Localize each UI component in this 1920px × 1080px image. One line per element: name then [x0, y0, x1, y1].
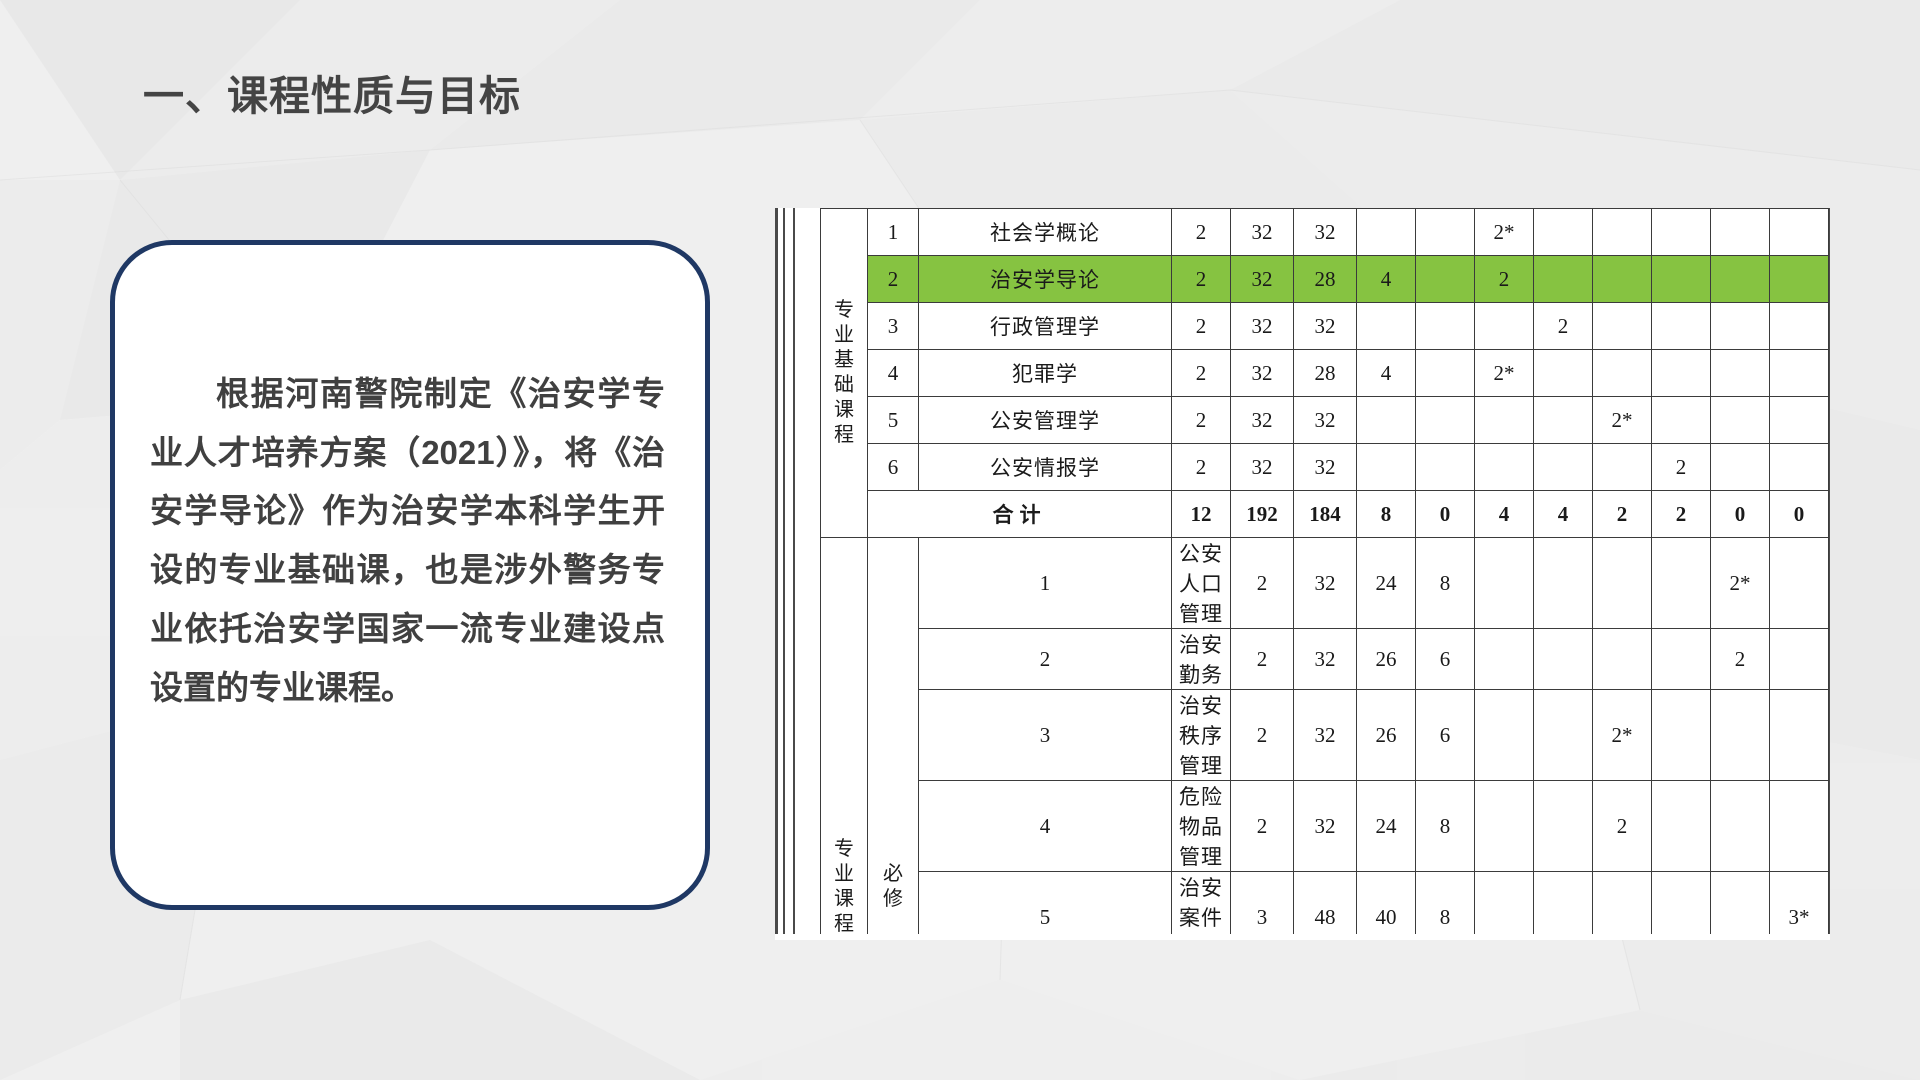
table-cell-value	[1652, 690, 1711, 781]
table-cell-value	[1652, 781, 1711, 872]
table-cell-value: 32	[1294, 444, 1357, 491]
table-cell-value	[1534, 781, 1593, 872]
table-cell-value	[1593, 350, 1652, 397]
table-cell-value	[1770, 444, 1829, 491]
table-cell-value	[1652, 256, 1711, 303]
table-cell-value	[1534, 872, 1593, 941]
document-edge-rule-left-inner	[793, 208, 795, 940]
document-edge-rule-left-outer	[775, 208, 778, 940]
table-cell-value: 8	[1416, 781, 1475, 872]
table-cell-value	[1770, 397, 1829, 444]
table-cell-value: 3	[1231, 872, 1294, 941]
document-edge-rule-left-mid	[783, 208, 785, 940]
table-category-label: 必修	[868, 538, 919, 941]
table-cell-value	[1652, 397, 1711, 444]
table-cell-value	[1593, 444, 1652, 491]
table-cell-value: 2	[1534, 303, 1593, 350]
table-cell-value: 2	[1172, 397, 1231, 444]
table-cell-value	[1770, 629, 1829, 690]
table-cell-value	[1652, 872, 1711, 941]
table-cell-value	[1711, 781, 1770, 872]
table-cell-index: 5	[868, 397, 919, 444]
table-cell-value: 3*	[1770, 872, 1829, 941]
table-row: 专业基础课程1社会学概论232322*	[821, 209, 1829, 256]
table-cell-value: 32	[1294, 690, 1357, 781]
table-cell-value: 48	[1294, 872, 1357, 941]
table-cell-value: 32	[1231, 256, 1294, 303]
table-cell-value: 32	[1231, 209, 1294, 256]
table-total-value: 2	[1652, 491, 1711, 538]
table-cell-course-name: 犯罪学	[919, 350, 1172, 397]
table-total-value: 4	[1534, 491, 1593, 538]
table-cell-value: 2	[1172, 444, 1231, 491]
table-cell-value: 2	[1231, 690, 1294, 781]
table-total-label: 合计	[868, 491, 1172, 538]
table-cell-value: 2*	[1475, 350, 1534, 397]
table-cell-value	[1416, 209, 1475, 256]
table-total-value: 0	[1770, 491, 1829, 538]
table-row: 5公安管理学232322*	[821, 397, 1829, 444]
table-cell-course-name: 公安管理学	[919, 397, 1172, 444]
table-cell-value: 32	[1231, 350, 1294, 397]
course-plan-table: 专业基础课程1社会学概论232322*2治安学导论23228423行政管理学23…	[820, 208, 1829, 940]
table-cell-value	[1475, 872, 1534, 941]
table-cell-value: 2	[1475, 256, 1534, 303]
table-cell-value	[1475, 781, 1534, 872]
document-clip-edge	[775, 934, 1830, 940]
table-cell-value: 32	[1294, 303, 1357, 350]
table-cell-value	[1711, 690, 1770, 781]
table-cell-value	[1770, 209, 1829, 256]
page-title: 一、课程性质与目标	[143, 62, 521, 122]
table-cell-value: 24	[1357, 538, 1416, 629]
table-cell-value: 6	[1416, 629, 1475, 690]
table-cell-value: 40	[1357, 872, 1416, 941]
table-cell-value: 2	[1652, 444, 1711, 491]
table-cell-value: 2	[1231, 781, 1294, 872]
table-row: 4危险物品管理2322482	[821, 781, 1829, 872]
table-category-label: 专业课程	[821, 538, 868, 941]
table-cell-index: 6	[868, 444, 919, 491]
table-cell-value	[1475, 629, 1534, 690]
table-cell-value	[1770, 690, 1829, 781]
table-cell-value	[1416, 303, 1475, 350]
table-cell-value	[1534, 538, 1593, 629]
table-cell-value	[1534, 209, 1593, 256]
table-cell-value	[1770, 256, 1829, 303]
table-cell-value	[1534, 690, 1593, 781]
table-cell-value: 4	[1357, 256, 1416, 303]
table-total-value: 2	[1593, 491, 1652, 538]
table-cell-value	[1534, 629, 1593, 690]
table-total-value: 0	[1416, 491, 1475, 538]
table-cell-value	[1593, 629, 1652, 690]
table-cell-value	[1711, 444, 1770, 491]
callout-body-text: 根据河南警院制定《治安学专业人才培养方案（2021）》，将《治安学导论》作为治安…	[150, 365, 665, 717]
table-row: 3行政管理学232322	[821, 303, 1829, 350]
table-cell-value	[1534, 444, 1593, 491]
table-cell-value	[1357, 397, 1416, 444]
table-cell-value: 2	[1172, 209, 1231, 256]
table-cell-course-name: 行政管理学	[919, 303, 1172, 350]
table-row: 6公安情报学232322	[821, 444, 1829, 491]
table-cell-value	[1652, 538, 1711, 629]
table-cell-value	[1416, 350, 1475, 397]
table-cell-index: 4	[919, 781, 1172, 872]
table-cell-value: 24	[1357, 781, 1416, 872]
table-cell-value	[1416, 256, 1475, 303]
table-row: 3治安秩序管理2322662*	[821, 690, 1829, 781]
table-cell-value	[1534, 397, 1593, 444]
table-row: 4犯罪学2322842*	[821, 350, 1829, 397]
table-total-value: 192	[1231, 491, 1294, 538]
table-cell-index: 2	[919, 629, 1172, 690]
table-cell-value: 2	[1231, 629, 1294, 690]
table-cell-value: 26	[1357, 629, 1416, 690]
table-cell-value: 28	[1294, 350, 1357, 397]
table-cell-value: 2	[1172, 303, 1231, 350]
table-cell-index: 3	[919, 690, 1172, 781]
table-cell-value	[1593, 538, 1652, 629]
table-row: 2治安学导论2322842	[821, 256, 1829, 303]
table-cell-value	[1652, 209, 1711, 256]
table-total-value: 184	[1294, 491, 1357, 538]
table-cell-course-name: 社会学概论	[919, 209, 1172, 256]
table-cell-value: 32	[1231, 397, 1294, 444]
table-cell-value	[1416, 397, 1475, 444]
table-cell-value: 8	[1416, 872, 1475, 941]
table-cell-value	[1534, 256, 1593, 303]
table-cell-value: 26	[1357, 690, 1416, 781]
table-cell-value	[1534, 350, 1593, 397]
table-cell-value: 32	[1231, 303, 1294, 350]
table-cell-value	[1475, 690, 1534, 781]
table-total-value: 12	[1172, 491, 1231, 538]
table-cell-value	[1652, 350, 1711, 397]
table-cell-value: 32	[1294, 629, 1357, 690]
table-total-row: 合计1219218480442200	[821, 491, 1829, 538]
table-cell-value	[1475, 538, 1534, 629]
table-cell-value: 2	[1172, 350, 1231, 397]
table-cell-value	[1475, 303, 1534, 350]
table-cell-value	[1357, 209, 1416, 256]
table-cell-value	[1711, 350, 1770, 397]
table-cell-value: 32	[1294, 209, 1357, 256]
course-plan-table-panel: 专业基础课程1社会学概论232322*2治安学导论23228423行政管理学23…	[775, 208, 1830, 940]
table-cell-index: 1	[919, 538, 1172, 629]
table-cell-course-name: 治安学导论	[919, 256, 1172, 303]
table-cell-value: 32	[1294, 781, 1357, 872]
table-cell-value: 32	[1294, 397, 1357, 444]
table-cell-course-name: 治安秩序管理	[1172, 690, 1231, 781]
table-cell-value	[1416, 444, 1475, 491]
table-cell-value: 2*	[1593, 397, 1652, 444]
table-total-value: 8	[1357, 491, 1416, 538]
table-cell-course-name: 公安情报学	[919, 444, 1172, 491]
table-cell-value: 2*	[1711, 538, 1770, 629]
table-cell-value: 28	[1294, 256, 1357, 303]
table-cell-value: 8	[1416, 538, 1475, 629]
table-cell-value	[1711, 209, 1770, 256]
table-cell-value: 4	[1357, 350, 1416, 397]
table-cell-value	[1475, 444, 1534, 491]
table-cell-value: 2	[1231, 538, 1294, 629]
table-cell-value	[1770, 781, 1829, 872]
table-cell-value: 6	[1416, 690, 1475, 781]
table-cell-value	[1593, 872, 1652, 941]
table-row: 专业课程必修1公安人口管理2322482*	[821, 538, 1829, 629]
table-cell-index: 5	[919, 872, 1172, 941]
table-cell-value	[1357, 303, 1416, 350]
table-cell-value	[1711, 256, 1770, 303]
table-cell-value	[1770, 350, 1829, 397]
table-cell-course-name: 治安案件查处	[1172, 872, 1231, 941]
table-row: 2治安勤务2322662	[821, 629, 1829, 690]
table-cell-index: 2	[868, 256, 919, 303]
table-cell-value	[1593, 256, 1652, 303]
table-cell-value	[1711, 397, 1770, 444]
table-cell-value: 2*	[1475, 209, 1534, 256]
table-cell-index: 3	[868, 303, 919, 350]
table-cell-value	[1593, 303, 1652, 350]
table-cell-value: 2	[1172, 256, 1231, 303]
table-cell-course-name: 危险物品管理	[1172, 781, 1231, 872]
table-cell-value	[1770, 538, 1829, 629]
table-cell-value: 32	[1231, 444, 1294, 491]
table-cell-value	[1770, 303, 1829, 350]
table-cell-index: 4	[868, 350, 919, 397]
table-cell-value	[1593, 209, 1652, 256]
table-cell-index: 1	[868, 209, 919, 256]
table-cell-value: 2*	[1593, 690, 1652, 781]
table-cell-value	[1652, 303, 1711, 350]
table-cell-course-name: 公安人口管理	[1172, 538, 1231, 629]
table-cell-value: 2	[1711, 629, 1770, 690]
table-cell-value	[1357, 444, 1416, 491]
table-row: 5治安案件查处3484083*	[821, 872, 1829, 941]
table-cell-value: 32	[1294, 538, 1357, 629]
table-cell-value: 2	[1593, 781, 1652, 872]
table-cell-value	[1711, 303, 1770, 350]
table-cell-value	[1652, 629, 1711, 690]
table-total-value: 4	[1475, 491, 1534, 538]
table-cell-value	[1475, 397, 1534, 444]
table-cell-value	[1711, 872, 1770, 941]
table-total-value: 0	[1711, 491, 1770, 538]
table-category-label: 专业基础课程	[821, 209, 868, 538]
table-cell-course-name: 治安勤务	[1172, 629, 1231, 690]
